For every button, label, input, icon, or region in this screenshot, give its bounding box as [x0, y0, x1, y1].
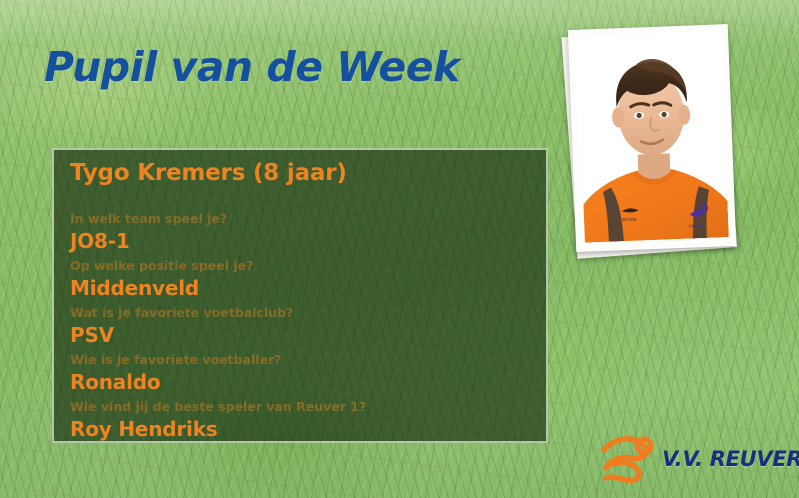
svg-text:reuver: reuver: [688, 223, 705, 230]
qa-item-club: Wat is je favoriete voetbalclub? PSV: [70, 304, 534, 350]
qa-question-player: Wie is je favoriete voetballer?: [70, 351, 534, 368]
qa-answer-player: Ronaldo: [70, 368, 534, 397]
player-photo: erima reuver: [572, 27, 732, 249]
running-figure-icon: [598, 430, 660, 488]
qa-question-club: Wat is je favoriete voetbalclub?: [70, 304, 534, 321]
page-title: Pupil van de Week: [44, 43, 460, 91]
qa-list: In welk team speel je? JO8-1 Op welke po…: [70, 210, 534, 444]
qa-question-best-reuver-player: Wie vind jij de beste speler van Reuver …: [70, 398, 534, 415]
qa-item-best-reuver-player: Wie vind jij de beste speler van Reuver …: [70, 398, 534, 444]
qa-answer-position: Middenveld: [70, 274, 534, 303]
photo-image: erima reuver: [575, 31, 729, 242]
player-name-heading: Tygo Kremers (8 jaar): [70, 160, 534, 186]
club-logo: V.V. REUVER: [598, 428, 793, 490]
player-info-panel: Tygo Kremers (8 jaar) In welk team speel…: [52, 148, 548, 443]
qa-answer-team: JO8-1: [70, 227, 534, 256]
qa-item-position: Op welke positie speel je? Middenveld: [70, 257, 534, 303]
qa-item-player: Wie is je favoriete voetballer? Ronaldo: [70, 351, 534, 397]
club-logo-text: V.V. REUVER: [662, 447, 799, 471]
svg-text:erima: erima: [622, 217, 637, 224]
qa-question-team: In welk team speel je?: [70, 210, 534, 227]
portrait-illustration: erima reuver: [575, 31, 729, 242]
qa-answer-best-reuver-player: Roy Hendriks: [70, 415, 534, 444]
qa-item-team: In welk team speel je? JO8-1: [70, 210, 534, 256]
qa-question-position: Op welke positie speel je?: [70, 257, 534, 274]
photo-frame-front: erima reuver: [568, 24, 736, 252]
slide-canvas: Pupil van de Week Tygo Kremers (8 jaar) …: [0, 0, 799, 498]
qa-answer-club: PSV: [70, 321, 534, 350]
player-info-content: Tygo Kremers (8 jaar) In welk team speel…: [70, 160, 534, 445]
